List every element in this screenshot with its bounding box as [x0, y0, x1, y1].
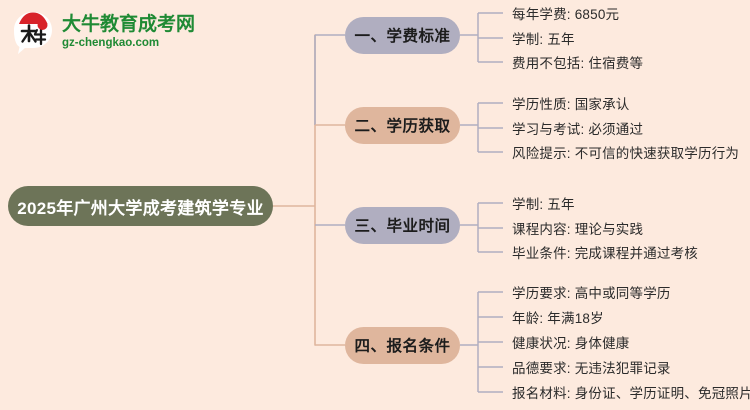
- daniu-speech-bubble-logo-icon: [10, 9, 56, 55]
- leaf-1-0: 每年学费: 6850元: [512, 8, 619, 22]
- leaf-2-2: 风险提示: 不可信的快速获取学历行为: [512, 147, 739, 161]
- branch-node-3[interactable]: 三、毕业时间: [345, 207, 460, 244]
- leaf-4-0: 学历要求: 高中或同等学历: [512, 287, 671, 301]
- logo-domain: gz-chengkao.com: [62, 38, 195, 50]
- leaf-4-3: 品德要求: 无违法犯罪记录: [512, 362, 671, 376]
- branch-node-2-label: 二、学历获取: [354, 114, 450, 136]
- root-node-label: 2025年广州大学成考建筑学专业: [17, 194, 264, 219]
- site-logo[interactable]: 大牛教育成考网 gz-chengkao.com: [10, 4, 190, 60]
- branch-node-1[interactable]: 一、学费标准: [345, 17, 460, 54]
- branch-node-2[interactable]: 二、学历获取: [345, 107, 460, 144]
- logo-title: 大牛教育成考网: [62, 15, 195, 34]
- leaf-4-1: 年龄: 年满18岁: [512, 312, 604, 326]
- branch-node-4[interactable]: 四、报名条件: [345, 327, 460, 364]
- logo-text-block: 大牛教育成考网 gz-chengkao.com: [62, 15, 195, 50]
- branch-node-4-label: 四、报名条件: [354, 334, 450, 356]
- leaf-2-0: 学历性质: 国家承认: [512, 98, 630, 112]
- branch-node-3-label: 三、毕业时间: [354, 214, 450, 236]
- leaf-4-2: 健康状况: 身体健康: [512, 337, 630, 351]
- branch-node-1-label: 一、学费标准: [354, 24, 450, 46]
- root-node[interactable]: 2025年广州大学成考建筑学专业: [8, 186, 273, 226]
- leaf-4-4: 报名材料: 身份证、学历证明、免冠照片: [512, 387, 750, 401]
- leaf-3-2: 毕业条件: 完成课程并通过考核: [512, 247, 698, 261]
- leaf-1-1: 学制: 五年: [512, 33, 575, 47]
- leaf-3-1: 课程内容: 理论与实践: [512, 223, 643, 237]
- leaf-3-0: 学制: 五年: [512, 198, 575, 212]
- leaf-1-2: 费用不包括: 住宿费等: [512, 57, 643, 71]
- leaf-2-1: 学习与考试: 必须通过: [512, 123, 643, 137]
